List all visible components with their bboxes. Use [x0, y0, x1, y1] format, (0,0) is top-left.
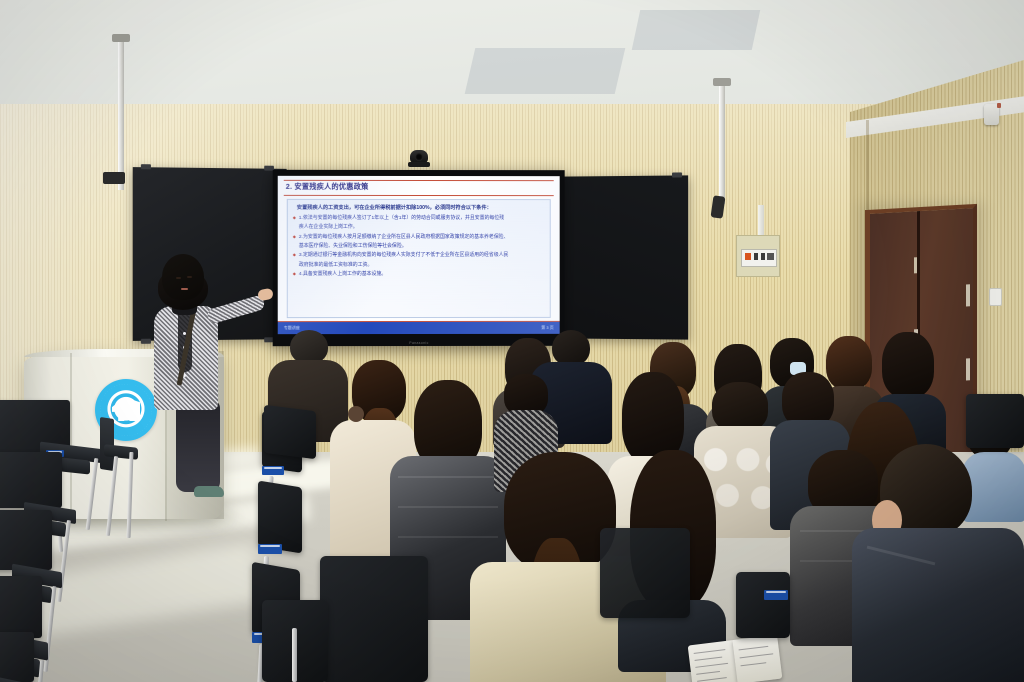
ceiling-panel-light: [465, 48, 626, 94]
hair-clip-icon: [348, 406, 364, 422]
slide-bullet: 1.依法与安置的每位残疾人签订了1年以上（含1年）的劳动合同或服务协议，并且安置…: [293, 215, 545, 223]
slide-bullet-line: 2.为安置的每位残疾人按月足额缴纳了企业所在区县人民政府根据国家政策规定的基本养…: [299, 235, 509, 240]
ceiling-panel-light: [632, 10, 761, 50]
projector-bracket-icon: [103, 172, 125, 184]
slide-bullet-line: 4.具备安置残疾人上岗工作的基本设施。: [299, 272, 386, 277]
blackboard-right-panel: [561, 175, 688, 339]
slide-title: 2. 安置残疾人的优惠政策: [286, 182, 552, 192]
ceiling-pole-right: [719, 84, 725, 204]
slide-bullet-cont: 疾人在企业实际上岗工作。: [293, 224, 545, 231]
slide-body: 安置残疾人的工资支出，可在企业所得税前据计扣除100%，必须同时符合以下条件： …: [287, 199, 551, 318]
slide-bullet: 2.为安置的每位残疾人按月足额缴纳了企业所在区县人民政府根据国家政策规定的基本养…: [293, 234, 545, 241]
slide-bullet: 3.定期通过银行等金融机构向安置的每位残疾人实际支付了不低于企业所在区县适用的经…: [293, 252, 545, 259]
slide-lead-text: 安置残疾人的工资支出，可在企业所得税前据计扣除100%，必须同时符合以下条件：: [297, 205, 545, 212]
audience-person-front-right: [852, 444, 1024, 682]
electrical-breaker-panel[interactable]: [736, 235, 780, 277]
lecture-chair[interactable]: [264, 405, 316, 459]
lecture-chair[interactable]: [320, 556, 428, 682]
ptz-conference-camera-icon: [408, 150, 430, 167]
slide-bullet: 4.具备安置残疾人上岗工作的基本设施。: [293, 271, 545, 278]
display-brand-label: Panasonic: [409, 341, 428, 345]
lecture-chair[interactable]: [966, 394, 1024, 448]
smoke-detector-icon: [984, 104, 999, 125]
ceiling-pole-left: [118, 40, 124, 190]
lecture-chair[interactable]: [736, 572, 790, 638]
slide-bullet-line: 3.定期通过银行等金融机构向安置的每位残疾人实际支付了不低于企业所在区县适用的经…: [299, 253, 509, 258]
presenter-shoe: [194, 486, 224, 497]
slide-bullet-line: 1.依法与安置的每位残疾人签订了1年以上（含1年）的劳动合同或服务协议，并且安置…: [299, 216, 504, 221]
chair-leg: [292, 628, 297, 682]
classroom-photo-scene: 2. 安置残疾人的优惠政策 安置残疾人的工资支出，可在企业所得税前据计扣除100…: [0, 0, 1024, 682]
slide-bullet-cont: 基本医疗保险、失业保险和工伤保险等社会保险。: [293, 243, 545, 250]
lecture-chair[interactable]: [600, 528, 690, 618]
presenter-pointing-arm: [206, 294, 266, 324]
wall-display[interactable]: 2. 安置残疾人的优惠政策 安置残疾人的工资支出，可在企业所得税前据计扣除100…: [273, 170, 565, 346]
light-switch-plate[interactable]: [989, 288, 1002, 306]
presentation-screen: 2. 安置残疾人的优惠政策 安置残疾人的工资支出，可在企业所得税前据计扣除100…: [278, 176, 560, 334]
slide-bullet-cont: 政府批准的最低工资标准的工资。: [293, 262, 545, 269]
seat-number-tag: [764, 590, 788, 600]
